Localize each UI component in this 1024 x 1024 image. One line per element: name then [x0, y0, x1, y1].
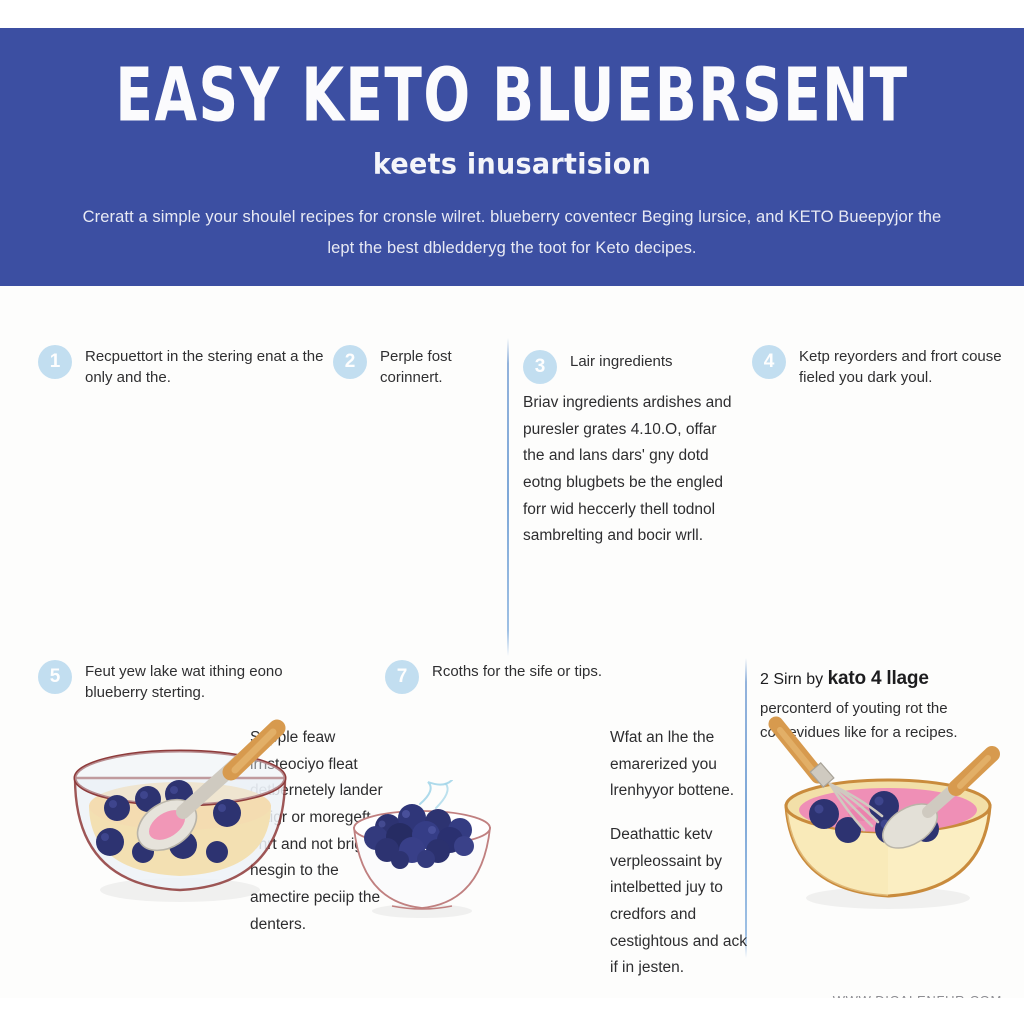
step-5-text: Feut yew lake wat ithing eono blueberry … [85, 660, 328, 704]
page-title: EASY KETO BLUEBRSENT [15, 58, 1008, 132]
infographic-page: EASY KETO BLUEBRSENT keets inusartision … [0, 0, 1024, 1024]
step-4-number: 4 [752, 345, 786, 379]
step-1: 1 Recpuettort in the stering enat a the … [38, 345, 328, 389]
step-3-header: 3 Lair ingredients [523, 350, 738, 384]
right-middle-paragraph-a: Wfat an lhe the emarerized you lrenhyyor… [610, 725, 750, 805]
glass-bowl-batter-icon [55, 700, 320, 915]
right-middle-paragraph-b: Deathattic ketv verpleossaint by intelbe… [610, 822, 750, 982]
step-7-header: 7 Rcoths for the sife or tips. [385, 660, 635, 694]
step-1-text: Recpuettort in the stering enat a the on… [85, 345, 328, 389]
right-column-heading-lead: 2 Sirn by [760, 671, 828, 688]
step-5: 5 Feut yew lake wat ithing eono blueberr… [38, 660, 328, 704]
step-2-header: 2 Perple fost corinnert. [333, 345, 498, 389]
step-3-body: Briav ingredients ardishes and puresler … [523, 390, 738, 550]
blueberry-bowl-icon [340, 780, 505, 920]
step-4-header: 4 Ketp reyorders and frort couse fieled … [752, 345, 1014, 389]
right-column-heading: 2 Sirn by kato 4 llage [760, 668, 1016, 690]
top-white-strip [0, 0, 1024, 28]
bottom-white-strip [0, 998, 1024, 1024]
column-divider-top [507, 338, 509, 656]
pink-batter-whisk-bowl-icon [760, 710, 1015, 915]
header-banner: EASY KETO BLUEBRSENT keets inusartision … [0, 28, 1024, 286]
step-3-number: 3 [523, 350, 557, 384]
step-5-number: 5 [38, 660, 72, 694]
step-7-number: 7 [385, 660, 419, 694]
step-4: 4 Ketp reyorders and frort couse fieled … [752, 345, 1014, 389]
right-middle-paragraph-block: Wfat an lhe the emarerized you lrenhyyor… [610, 725, 750, 982]
step-3: 3 Lair ingredients Briav ingredients ard… [523, 350, 738, 550]
right-column-heading-bold: kato 4 llage [828, 668, 929, 689]
step-7-text: Rcoths for the sife or tips. [432, 660, 602, 682]
step-5-header: 5 Feut yew lake wat ithing eono blueberr… [38, 660, 328, 704]
step-3-text: Lair ingredients [570, 350, 673, 372]
header-description: Creratt a simple your shoulel recipes fo… [72, 202, 952, 263]
step-1-header: 1 Recpuettort in the stering enat a the … [38, 345, 328, 389]
step-2: 2 Perple fost corinnert. [333, 345, 498, 389]
step-1-number: 1 [38, 345, 72, 379]
page-subtitle: keets inusartision [0, 148, 1024, 181]
step-4-text: Ketp reyorders and frort couse fieled yo… [799, 345, 1014, 389]
step-2-number: 2 [333, 345, 367, 379]
step-2-text: Perple fost corinnert. [380, 345, 498, 389]
step-7: 7 Rcoths for the sife or tips. [385, 660, 635, 694]
steps-grid: 1 Recpuettort in the stering enat a the … [0, 300, 1024, 990]
